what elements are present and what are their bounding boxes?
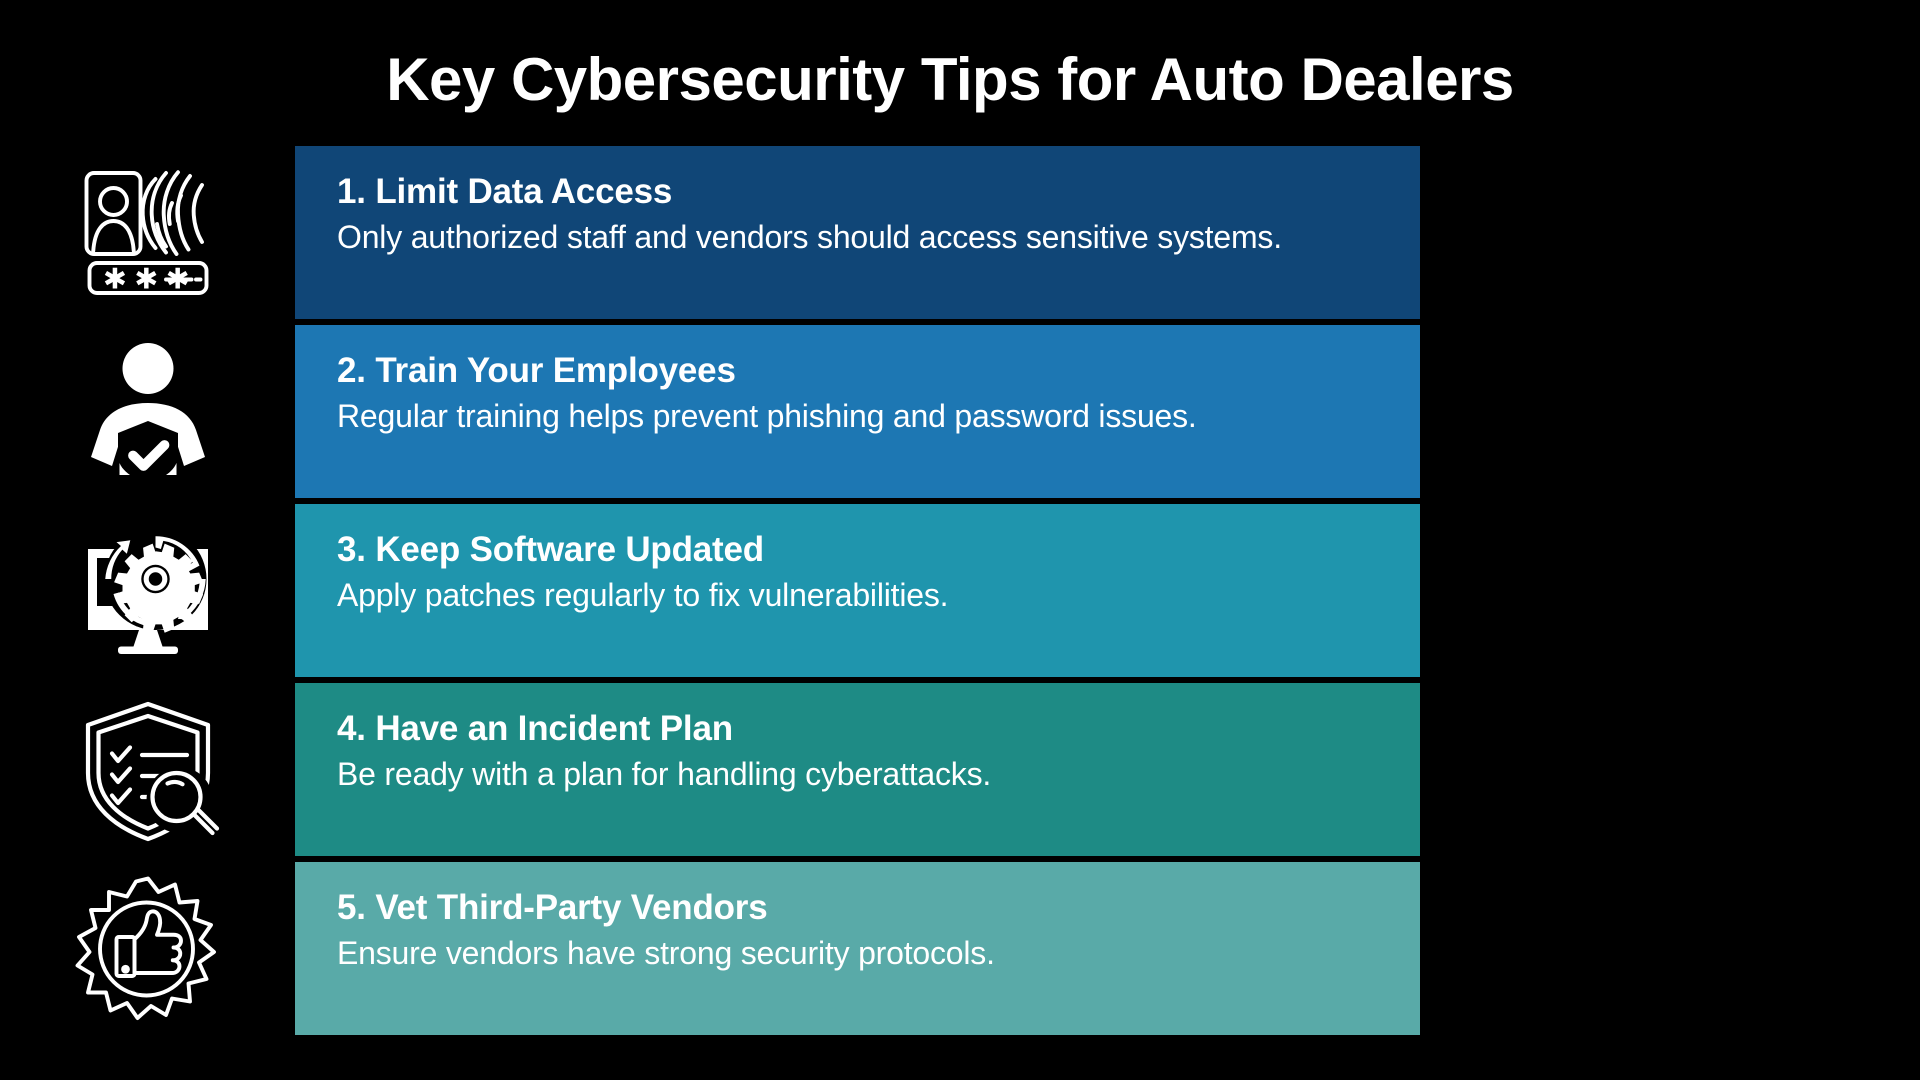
tip-title: 1. Limit Data Access: [337, 172, 1420, 212]
tip-banner: 1. Limit Data Access Only authorized sta…: [295, 146, 1420, 319]
tip-row: 4. Have an Incident Plan Be ready with a…: [0, 683, 1920, 856]
tip-banner: 4. Have an Incident Plan Be ready with a…: [295, 683, 1420, 856]
tip-row: 5. Vet Third-Party Vendors Ensure vendor…: [0, 862, 1920, 1035]
tip-row: 3. Keep Software Updated Apply patches r…: [0, 504, 1920, 677]
tip-banner: 2. Train Your Employees Regular training…: [295, 325, 1420, 498]
tip-icon-cell: [0, 862, 295, 1035]
tip-banner: 3. Keep Software Updated Apply patches r…: [295, 504, 1420, 677]
tip-description: Regular training helps prevent phishing …: [337, 397, 1420, 435]
tip-description: Apply patches regularly to fix vulnerabi…: [337, 576, 1420, 614]
tip-row: ✱✱✱ 1. Limit Data Access Only authorized…: [0, 146, 1920, 319]
thumbs-up-badge-icon: [73, 874, 223, 1024]
tip-description: Only authorized staff and vendors should…: [337, 218, 1420, 256]
tip-icon-cell: [0, 504, 295, 677]
tip-title: 2. Train Your Employees: [337, 351, 1420, 391]
page-title: Key Cybersecurity Tips for Auto Dealers: [300, 48, 1600, 111]
tips-list: ✱✱✱ 1. Limit Data Access Only authorized…: [0, 146, 1920, 1041]
person-holding-check-shield-icon: [73, 337, 223, 487]
tip-row: 2. Train Your Employees Regular training…: [0, 325, 1920, 498]
tip-icon-cell: [0, 325, 295, 498]
tip-icon-cell: [0, 683, 295, 856]
tip-title: 4. Have an Incident Plan: [337, 709, 1420, 749]
id-card-fingerprint-password-icon: ✱✱✱: [73, 158, 223, 308]
shield-checklist-magnifier-icon: [73, 695, 223, 845]
infographic-canvas: Key Cybersecurity Tips for Auto Dealers: [0, 0, 1920, 1080]
tip-banner: 5. Vet Third-Party Vendors Ensure vendor…: [295, 862, 1420, 1035]
tip-icon-cell: ✱✱✱: [0, 146, 295, 319]
tip-description: Be ready with a plan for handling cybera…: [337, 755, 1420, 793]
monitor-gear-update-icon: [73, 516, 223, 666]
tip-description: Ensure vendors have strong security prot…: [337, 934, 1420, 972]
tip-title: 3. Keep Software Updated: [337, 530, 1420, 570]
tip-title: 5. Vet Third-Party Vendors: [337, 888, 1420, 928]
